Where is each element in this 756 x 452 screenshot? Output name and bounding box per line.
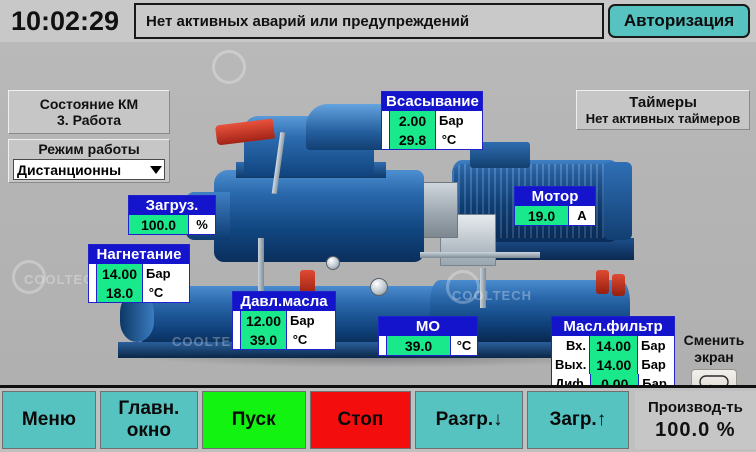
load-value: 100.0 [129, 215, 189, 234]
oil-filter-measurement-box: Масл.фильтр Вх. 14.00 Бар Вых. 14.00 Бар… [551, 316, 675, 385]
oil-filter-diff-unit: Бар [639, 374, 670, 385]
load-title: Загруз. [129, 196, 215, 215]
oil-temp-value: 39.0 [241, 330, 287, 349]
motor-measurement-box: Мотор 19.0 A [514, 186, 596, 226]
authorization-button[interactable]: Авторизация [608, 4, 750, 38]
stop-button[interactable]: Стоп [310, 391, 412, 449]
oil-filter-outlet-value: 14.00 [590, 355, 638, 374]
compressor-status-panel: Состояние КМ 3. Работа [8, 90, 170, 134]
status-panel-title: Состояние КМ [40, 96, 138, 112]
menu-button[interactable]: Меню [2, 391, 96, 449]
oil-temp-unit: °C [287, 330, 313, 349]
loop-arrow-icon [699, 374, 729, 385]
oil-filter-diff-value: 0.00 [591, 374, 639, 385]
discharge-pressure-unit: Бар [143, 264, 174, 283]
chevron-down-icon [150, 166, 162, 174]
top-bar: 10:02:29 Нет активных аварий или предупр… [0, 0, 756, 42]
oil-filter-inlet-label: Вх. [552, 336, 590, 355]
status-panel-value: 3. Работа [57, 112, 121, 128]
discharge-temp-value: 18.0 [97, 283, 143, 302]
mo-unit: °C [451, 336, 477, 355]
load-unit: % [189, 215, 215, 234]
oil-pressure-value: 12.00 [241, 311, 287, 330]
suction-measurement-box: Всасывание 2.00 Бар 29.8 °C [381, 91, 483, 150]
oil-filter-inlet-unit: Бар [638, 336, 669, 355]
capacity-readout: Производ-ть 100.0 % [635, 391, 756, 449]
motor-current-value: 19.0 [515, 206, 569, 225]
capacity-value: 100.0 % [655, 418, 735, 442]
timers-panel: Таймеры Нет активных таймеров [576, 90, 750, 130]
operating-mode-dropdown[interactable]: Дистанционны [13, 159, 165, 180]
change-screen-label-line1: Сменить [684, 332, 745, 349]
hmi-screen: 10:02:29 Нет активных аварий или предупр… [0, 0, 756, 452]
discharge-temp-unit: °C [143, 283, 169, 302]
main-window-label-line1: Главн. [118, 398, 179, 420]
change-screen-label-line2: экран [694, 349, 734, 366]
oil-pressure-title: Давл.масла [233, 292, 335, 311]
timers-title: Таймеры [629, 94, 697, 111]
table-row: Вх. 14.00 Бар [552, 336, 674, 355]
main-graphic-screen: COOLTECH COOLTECH COOLTECH Состояние КМ … [0, 42, 756, 385]
suction-title: Всасывание [382, 92, 482, 111]
motor-current-unit: A [569, 206, 595, 225]
oil-filter-title: Масл.фильтр [552, 317, 674, 336]
load-measurement-box: Загруз. 100.0 % [128, 195, 216, 235]
table-row: Диф. 0.00 Бар [552, 374, 674, 385]
table-row: Вых. 14.00 Бар [552, 355, 674, 374]
operating-mode-panel: Режим работы Дистанционны [8, 139, 170, 183]
operating-mode-value: Дистанционны [17, 162, 121, 178]
discharge-pressure-value: 14.00 [97, 264, 143, 283]
bottom-toolbar: Меню Главн. окно Пуск Стоп Разгр.↓ Загр.… [0, 385, 756, 452]
suction-temp-unit: °C [436, 130, 462, 149]
timers-subtitle: Нет активных таймеров [586, 111, 741, 127]
change-screen-button[interactable] [691, 369, 737, 385]
mo-title: МО [379, 317, 477, 336]
main-window-button[interactable]: Главн. окно [100, 391, 198, 449]
mo-value: 39.0 [387, 336, 451, 355]
motor-title: Мотор [515, 187, 595, 206]
oil-filter-outlet-label: Вых. [552, 355, 590, 374]
oil-filter-inlet-value: 14.00 [590, 336, 638, 355]
oil-filter-outlet-unit: Бар [638, 355, 669, 374]
suction-temp-value: 29.8 [390, 130, 436, 149]
change-screen-control: Сменить экран [676, 332, 752, 385]
oil-pressure-unit: Бар [287, 311, 318, 330]
clock-display: 10:02:29 [0, 1, 130, 41]
discharge-title: Нагнетание [89, 245, 189, 264]
discharge-measurement-box: Нагнетание 14.00 Бар 18.0 °C [88, 244, 190, 303]
oil-pressure-measurement-box: Давл.масла 12.00 Бар 39.0 °C [232, 291, 336, 350]
suction-pressure-value: 2.00 [390, 111, 436, 130]
main-window-label-line2: окно [118, 420, 179, 442]
start-button[interactable]: Пуск [202, 391, 306, 449]
alarm-status-bar: Нет активных аварий или предупреждений [134, 3, 604, 39]
mo-measurement-box: МО 39.0 °C [378, 316, 478, 356]
load-button[interactable]: Загр.↑ [527, 391, 629, 449]
oil-filter-diff-label: Диф. [552, 374, 591, 385]
operating-mode-label: Режим работы [9, 140, 169, 159]
capacity-label: Производ-ть [648, 398, 743, 418]
unload-button[interactable]: Разгр.↓ [415, 391, 523, 449]
suction-pressure-unit: Бар [436, 111, 467, 130]
